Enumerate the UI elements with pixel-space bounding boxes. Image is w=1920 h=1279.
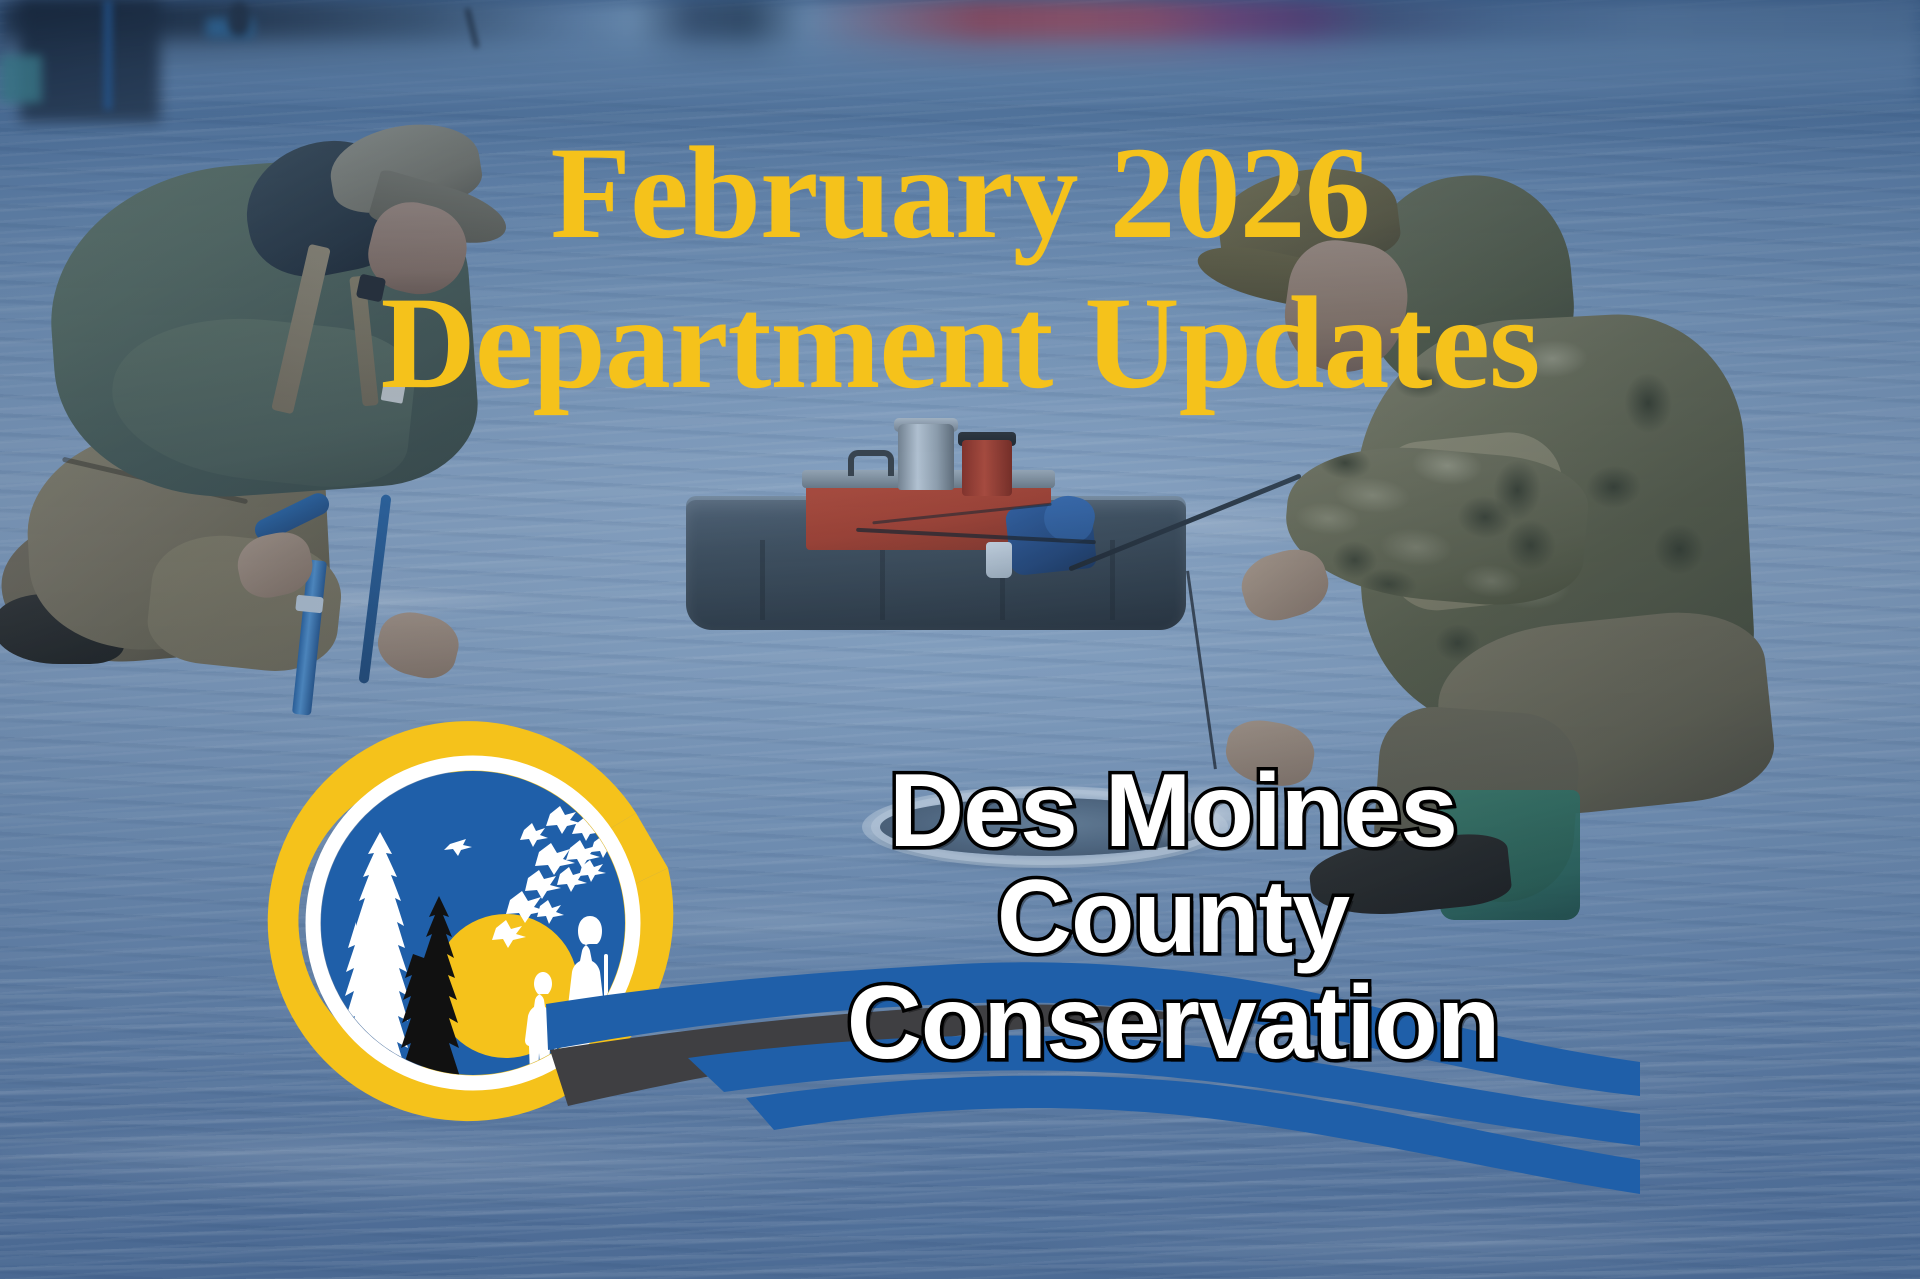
organization-logo-lockup: Des Moines County Conservation — [238, 718, 1638, 1218]
wordmark-line-1: Des Moines County — [708, 758, 1638, 970]
wave-ribbon-third — [746, 1076, 1640, 1194]
poster-canvas: February 2026 Department Updates — [0, 0, 1920, 1279]
organization-wordmark: Des Moines County Conservation — [708, 758, 1638, 1076]
wordmark-line-2: Conservation — [708, 970, 1638, 1076]
